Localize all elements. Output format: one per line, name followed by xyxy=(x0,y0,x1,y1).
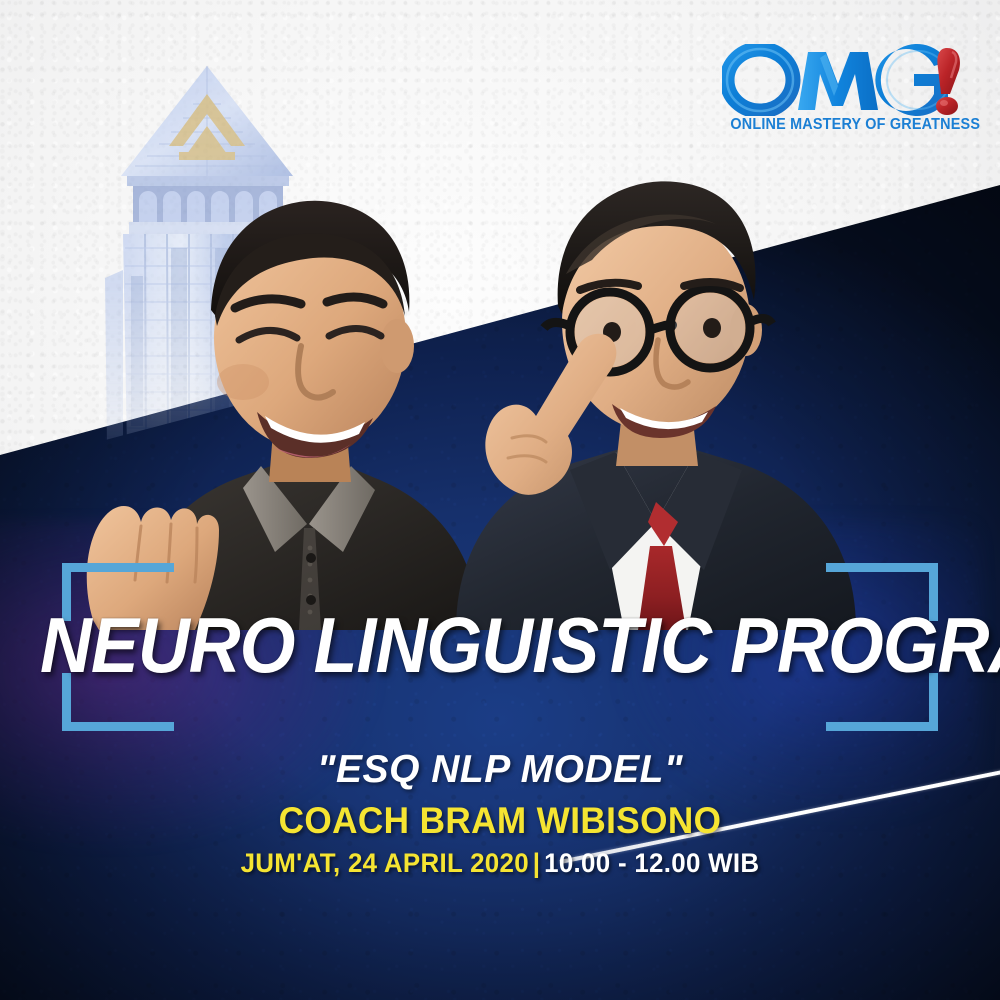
frame-bottom-left-bar xyxy=(62,722,174,731)
model-quote: "ESQ NLP MODEL" xyxy=(0,748,1000,792)
omg-logo-mark xyxy=(722,44,960,116)
omg-logo: ONLINE MASTERY OF GREATNESS xyxy=(722,44,960,144)
logo-tagline: ONLINE MASTERY OF GREATNESS xyxy=(730,116,951,134)
event-time: 10.00 - 12.00 WIB xyxy=(544,848,759,878)
frame-top-left-bar xyxy=(62,563,174,572)
page-title: NEURO LINGUISTIC PROGRAMING xyxy=(40,600,960,691)
person-right-image xyxy=(420,150,890,630)
frame-bottom-right-bar xyxy=(826,722,938,731)
frame-top-right-bar xyxy=(826,563,938,572)
poster-canvas: M xyxy=(0,0,1000,1000)
event-date: JUM'AT, 24 APRIL 2020 xyxy=(241,848,529,878)
event-datetime: JUM'AT, 24 APRIL 2020|10.00 - 12.00 WIB xyxy=(20,848,980,879)
speaker-name: COACH BRAM WIBISONO xyxy=(25,800,975,842)
datetime-separator: | xyxy=(529,848,544,878)
